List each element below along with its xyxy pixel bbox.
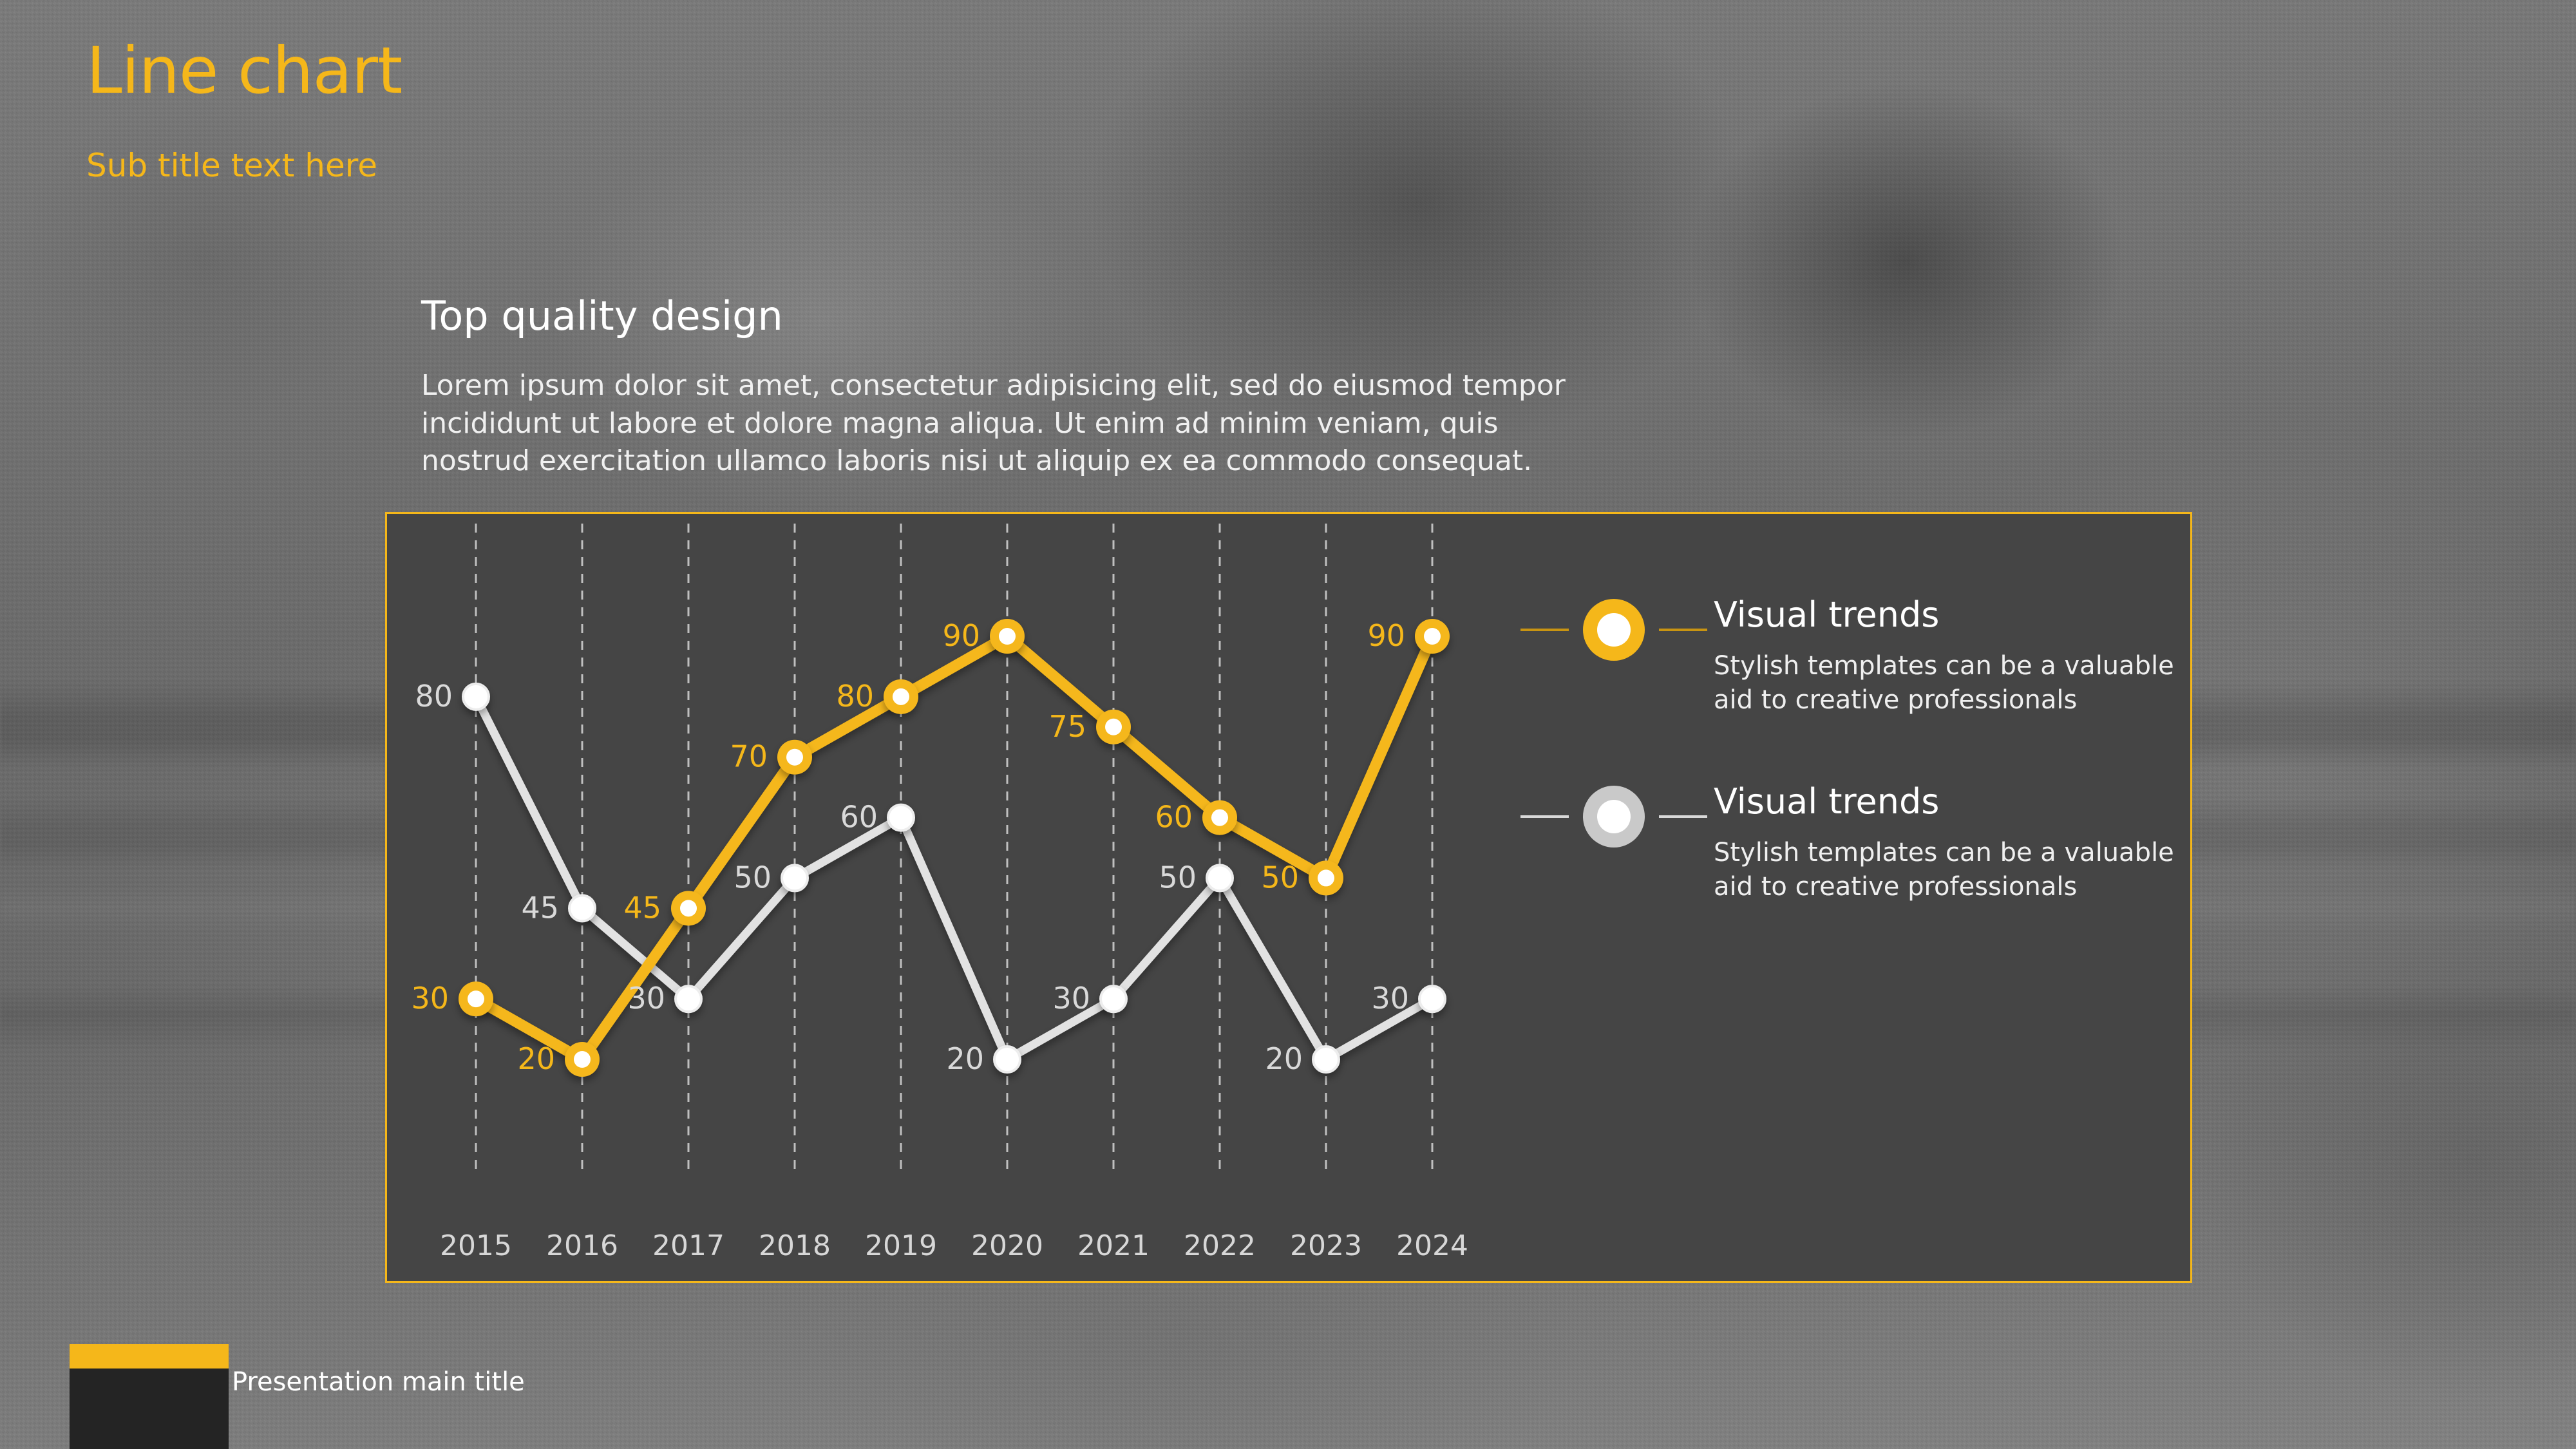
data-point-marker[interactable] <box>569 895 595 921</box>
data-point-marker[interactable] <box>782 865 808 891</box>
x-axis-label: 2022 <box>1184 1229 1256 1262</box>
data-point-label: 50 <box>1261 860 1299 895</box>
legend-item-description: Stylish templates can be a valuable aid … <box>1714 649 2216 717</box>
line-chart-svg: 8045305060203050203030204570809075605090 <box>387 514 1546 1285</box>
intro-body: Lorem ipsum dolor sit amet, consectetur … <box>421 367 1567 480</box>
data-point-label: 75 <box>1048 709 1086 744</box>
data-point-label: 45 <box>521 890 559 925</box>
data-point-label: 50 <box>1159 860 1197 895</box>
data-point-label: 70 <box>730 739 768 774</box>
data-point-marker-center <box>1211 810 1228 826</box>
legend-item-title: Visual trends <box>1714 784 1939 819</box>
x-axis-label: 2018 <box>759 1229 831 1262</box>
x-axis-label: 2016 <box>546 1229 618 1262</box>
x-axis-label: 2015 <box>440 1229 512 1262</box>
data-point-marker[interactable] <box>463 684 489 710</box>
data-point-marker-center <box>1105 719 1122 735</box>
data-point-marker[interactable] <box>1419 986 1445 1012</box>
data-point-marker-center <box>468 990 484 1007</box>
legend-ring-yellow-marker-icon <box>1520 591 1707 668</box>
legend-item-title: Visual trends <box>1714 598 1939 632</box>
data-point-marker-center <box>786 749 803 766</box>
data-point-label: 30 <box>411 981 449 1016</box>
data-point-marker-center <box>1424 628 1441 645</box>
data-point-marker-center <box>680 900 697 916</box>
data-point-label: 20 <box>1265 1041 1303 1076</box>
data-point-label: 30 <box>1371 981 1409 1016</box>
data-point-label: 20 <box>946 1041 984 1076</box>
line-chart-plot: 8045305060203050203030204570809075605090… <box>387 514 1546 1285</box>
legend-ring-gray-marker-icon <box>1520 778 1707 855</box>
x-axis-label: 2021 <box>1077 1229 1150 1262</box>
data-point-marker[interactable] <box>888 805 914 831</box>
data-point-label: 20 <box>517 1041 555 1076</box>
data-point-marker-center <box>574 1051 591 1068</box>
data-point-marker-center <box>893 688 909 705</box>
x-axis-label: 2024 <box>1396 1229 1468 1262</box>
legend-item-visual-trends-gray[interactable]: Visual trends Stylish templates can be a… <box>1520 772 2171 958</box>
x-axis-label: 2023 <box>1290 1229 1362 1262</box>
data-point-label: 30 <box>1052 981 1090 1016</box>
x-axis-label: 2017 <box>652 1229 724 1262</box>
data-point-label: 60 <box>840 800 878 835</box>
data-point-label: 80 <box>836 679 874 714</box>
data-point-label: 90 <box>942 618 980 653</box>
x-axis-label: 2019 <box>865 1229 937 1262</box>
footer-accent-bar <box>70 1344 229 1368</box>
data-point-marker[interactable] <box>1207 865 1233 891</box>
data-point-marker[interactable] <box>994 1046 1020 1072</box>
data-point-marker[interactable] <box>1313 1046 1339 1072</box>
data-point-label: 30 <box>627 981 665 1016</box>
data-point-marker-center <box>1318 869 1334 886</box>
chart-series-layer <box>459 619 1450 1077</box>
footer-title: Presentation main title <box>232 1369 525 1395</box>
chart-legend: Visual trends Stylish templates can be a… <box>1520 585 2171 958</box>
data-point-marker[interactable] <box>676 986 701 1012</box>
chart-panel: 8045305060203050203030204570809075605090… <box>385 512 2192 1283</box>
data-point-marker-center <box>999 628 1016 645</box>
legend-item-visual-trends-yellow[interactable]: Visual trends Stylish templates can be a… <box>1520 585 2171 772</box>
legend-item-description: Stylish templates can be a valuable aid … <box>1714 836 2216 904</box>
data-point-label: 45 <box>623 890 661 925</box>
data-point-marker[interactable] <box>1101 986 1126 1012</box>
x-axis-label: 2020 <box>971 1229 1043 1262</box>
page-title: Line chart <box>86 39 402 103</box>
intro-heading: Top quality design <box>421 296 783 336</box>
page-subtitle: Sub title text here <box>86 149 377 182</box>
data-point-label: 90 <box>1367 618 1405 653</box>
data-point-label: 60 <box>1155 800 1193 835</box>
data-point-label: 50 <box>734 860 772 895</box>
data-point-label: 80 <box>415 679 453 714</box>
